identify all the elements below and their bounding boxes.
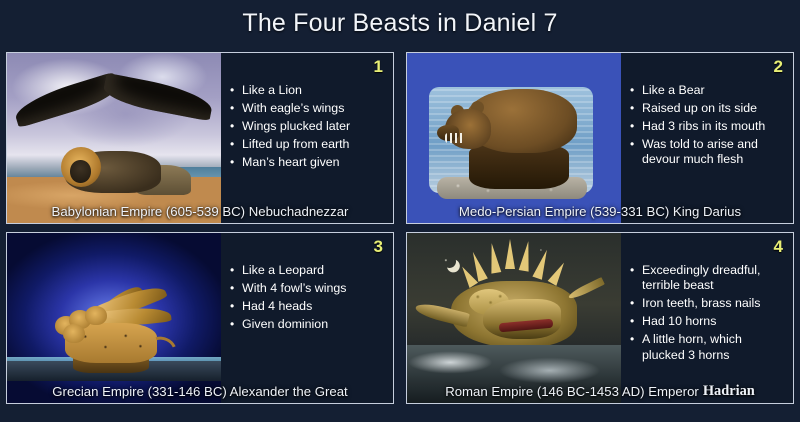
list-item: Wings plucked later — [229, 119, 389, 134]
caption-text: Medo-Persian Empire (539-331 BC) King Da… — [459, 204, 741, 219]
winged-leopard-illustration — [7, 233, 223, 403]
beast-text-1: 1 Like a Lion With eagle’s wings Wings p… — [221, 53, 393, 223]
bear-illustration — [407, 53, 623, 223]
list-item: Had 4 heads — [229, 299, 389, 314]
beast-bullets-2: Like a Bear Raised up on its side Had 3 … — [629, 83, 789, 170]
beast-caption-1: Babylonian Empire (605-539 BC) Nebuchadn… — [7, 200, 393, 223]
list-item: With eagle’s wings — [229, 101, 389, 116]
beast-image-4 — [407, 233, 623, 403]
list-item: Man’s heart given — [229, 155, 389, 170]
beast-caption-2: Medo-Persian Empire (539-331 BC) King Da… — [407, 200, 793, 223]
beast-bullets-3: Like a Leopard With 4 fowl’s wings Had 4… — [229, 263, 389, 335]
list-item: terrible beast — [629, 278, 789, 293]
panel-number-badge-4: 4 — [774, 238, 783, 255]
list-item: Given dominion — [229, 317, 389, 332]
panel-number-badge-1: 1 — [374, 58, 383, 75]
beast-caption-4: Roman Empire (146 BC-1453 AD) Emperor Ha… — [407, 380, 793, 403]
beast-panel-4[interactable]: 4 Exceedingly dreadful, terrible beast I… — [406, 232, 794, 404]
list-item: Iron teeth, brass nails — [629, 296, 789, 311]
panel-number-badge-2: 2 — [774, 58, 783, 75]
caption-text: Roman Empire (146 BC-1453 AD) Emperor — [445, 384, 699, 399]
list-item: Like a Bear — [629, 83, 789, 98]
caption-text: Grecian Empire (331-146 BC) Alexander th… — [52, 384, 347, 399]
caption-text: Babylonian Empire (605-539 BC) Nebuchadn… — [52, 204, 349, 219]
winged-lion-illustration — [7, 53, 223, 223]
beast-panel-2[interactable]: 2 Like a Bear Raised up on its side Had … — [406, 52, 794, 224]
beast-bullets-4: Exceedingly dreadful, terrible beast Iro… — [629, 263, 789, 366]
list-item: With 4 fowl’s wings — [229, 281, 389, 296]
beast-text-3: 3 Like a Leopard With 4 fowl’s wings Had… — [221, 233, 393, 403]
list-item: Lifted up from earth — [229, 137, 389, 152]
panel-number-badge-3: 3 — [374, 238, 383, 255]
beasts-grid: 1 Like a Lion With eagle’s wings Wings p… — [6, 52, 794, 416]
page-title: The Four Beasts in Daniel 7 — [0, 4, 800, 42]
beast-image-1 — [7, 53, 223, 223]
beast-image-2 — [407, 53, 623, 223]
beast-panel-1[interactable]: 1 Like a Lion With eagle’s wings Wings p… — [6, 52, 394, 224]
list-item: devour much flesh — [629, 152, 789, 167]
list-item: Was told to arise and — [629, 137, 789, 152]
beast-text-2: 2 Like a Bear Raised up on its side Had … — [621, 53, 793, 223]
list-item: Like a Lion — [229, 83, 389, 98]
beast-caption-3: Grecian Empire (331-146 BC) Alexander th… — [7, 380, 393, 403]
beast-text-4: 4 Exceedingly dreadful, terrible beast I… — [621, 233, 793, 403]
beast-image-3 — [7, 233, 223, 403]
dreadful-beast-illustration — [407, 233, 623, 403]
beast-panel-3[interactable]: 3 Like a Leopard With 4 fowl’s wings Had… — [6, 232, 394, 404]
list-item: Like a Leopard — [229, 263, 389, 278]
caption-emphasis: Hadrian — [699, 383, 755, 400]
list-item: A little horn, which — [629, 332, 789, 347]
beast-bullets-1: Like a Lion With eagle’s wings Wings plu… — [229, 83, 389, 173]
list-item: Exceedingly dreadful, — [629, 263, 789, 278]
list-item: Had 3 ribs in its mouth — [629, 119, 789, 134]
list-item: Raised up on its side — [629, 101, 789, 116]
list-item: plucked 3 horns — [629, 348, 789, 363]
list-item: Had 10 horns — [629, 314, 789, 329]
